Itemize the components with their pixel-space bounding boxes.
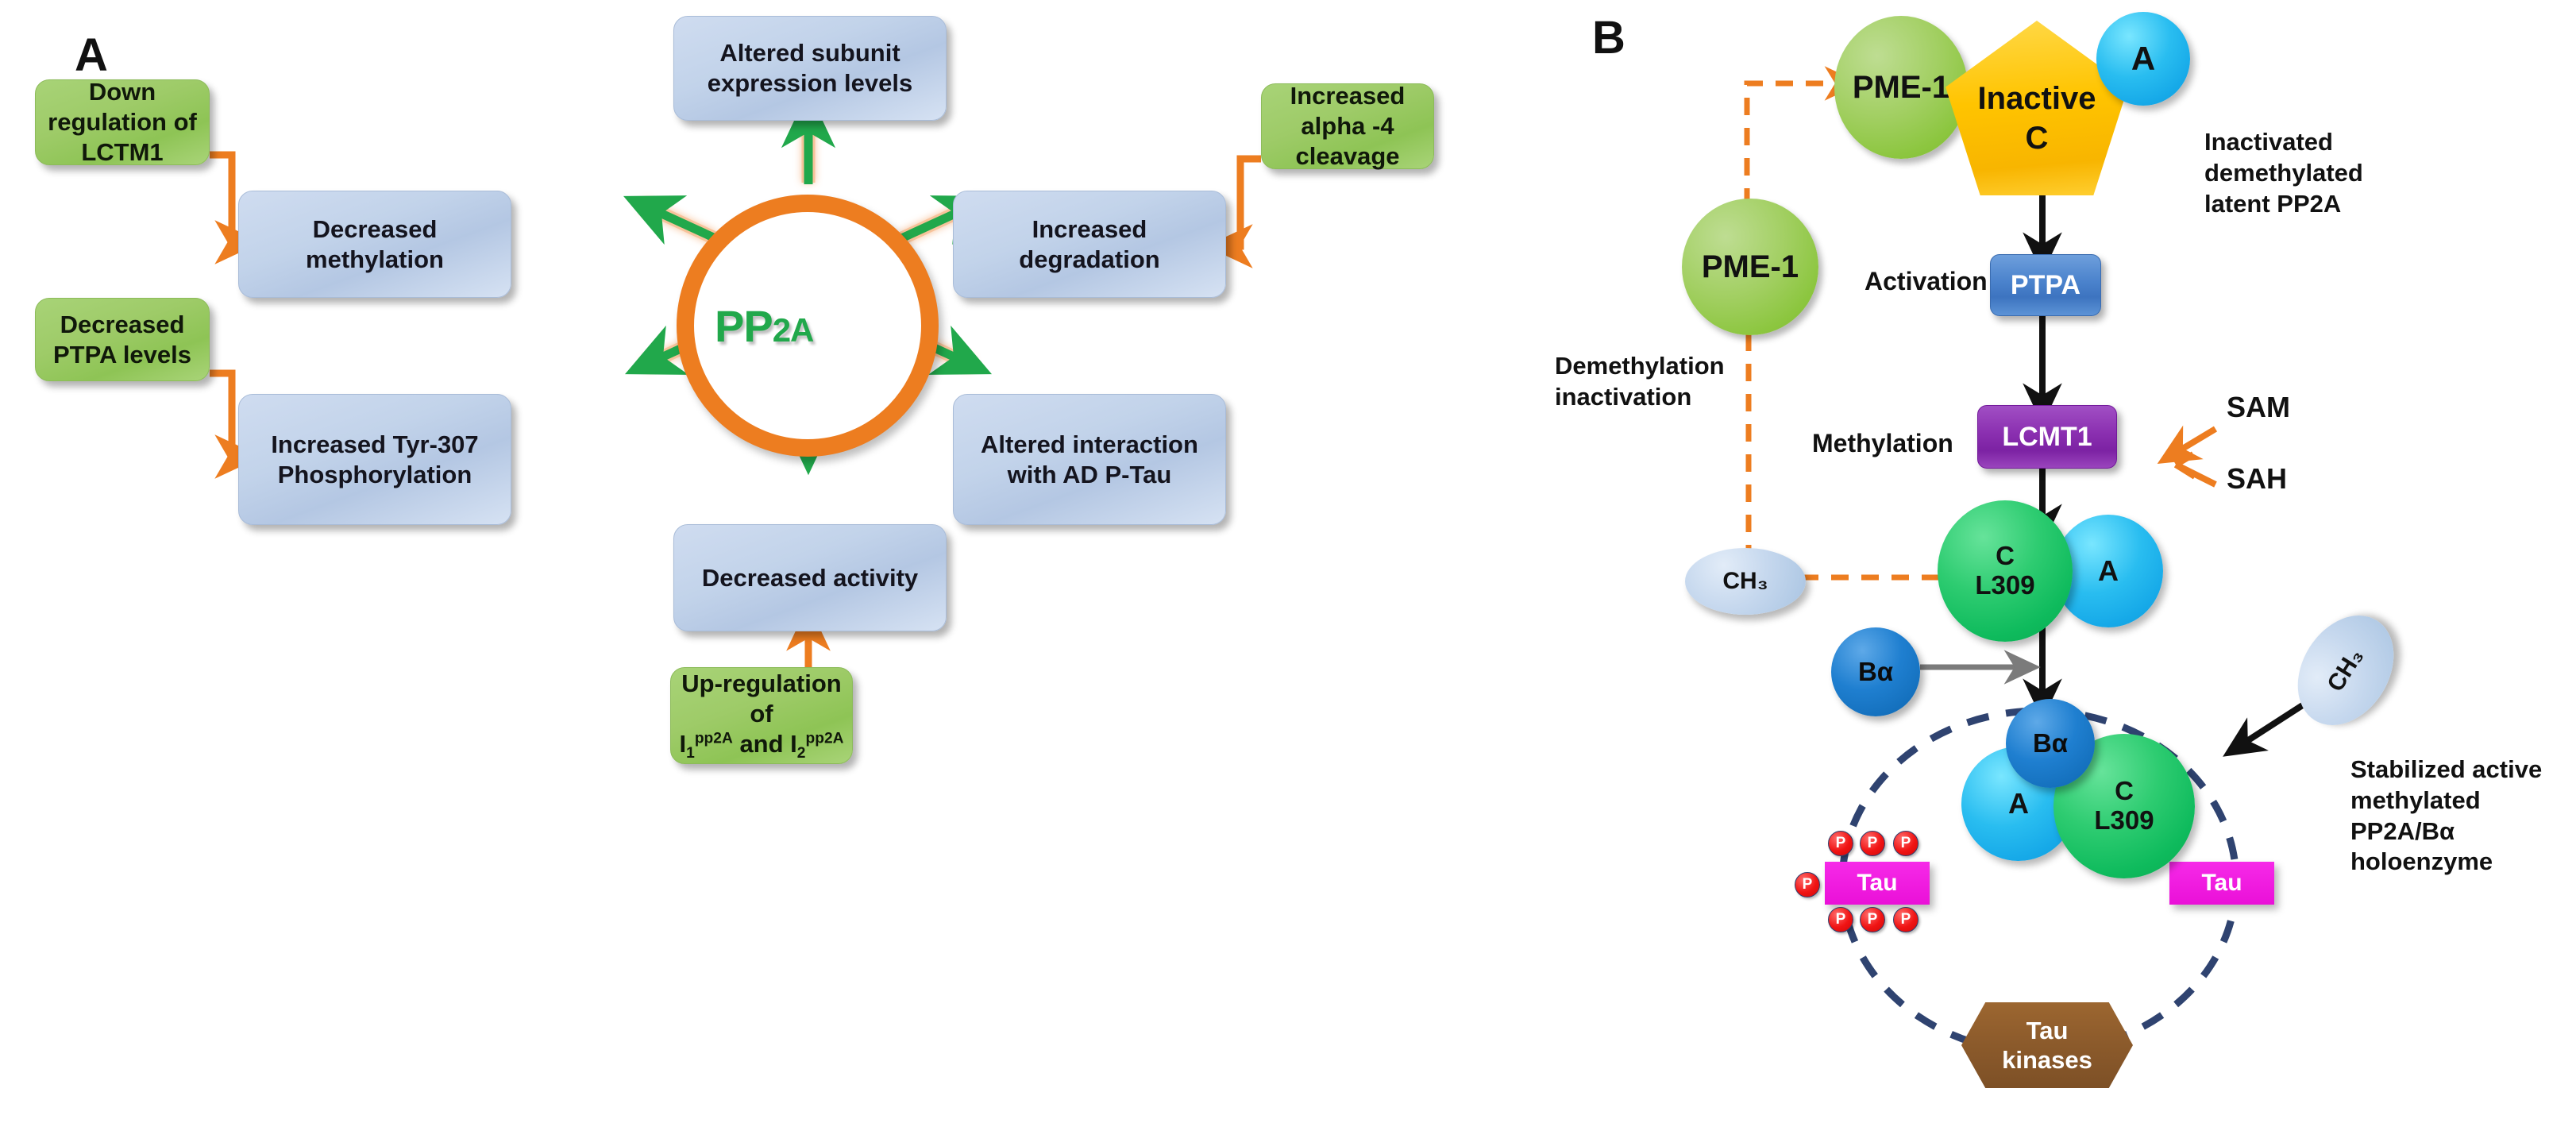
panel-a: A — [0, 0, 1548, 1127]
phosphate-icon: P — [1828, 907, 1853, 932]
phosphate-icon: P — [1795, 872, 1820, 897]
c-l309-holo-line2: L309 — [2094, 806, 2154, 836]
panel-a-letter: A — [75, 29, 108, 82]
inactivated-line3: latent PP2A — [2204, 189, 2363, 220]
ch3-left-node[interactable]: CH₃ — [1685, 548, 1806, 615]
inhibitor-1-superscript: pp2A — [695, 730, 733, 747]
c-l309-mid-line2: L309 — [1975, 571, 2034, 600]
inactive-c-line2: C — [2026, 118, 2049, 158]
c-l309-holo-line1: C — [2115, 777, 2134, 806]
tau-phospho-box[interactable]: Tau — [1825, 862, 1930, 905]
phosphate-icon: P — [1893, 831, 1919, 856]
lcmt1-node[interactable]: LCMT1 — [1977, 405, 2117, 469]
activation-label: Activation — [1865, 265, 1988, 297]
panel-b-letter: B — [1592, 11, 1625, 64]
node-down-regulation-lctm1[interactable]: Down regulation of LCTM1 — [35, 79, 210, 165]
tau-kinases-line1: Tau — [2026, 1016, 2069, 1045]
c-l309-mid-line1: C — [1996, 542, 2015, 571]
node-decreased-activity[interactable]: Decreased activity — [673, 524, 947, 631]
inhibitor-2-subscript: 2 — [797, 745, 806, 762]
ptpa-node[interactable]: PTPA — [1990, 254, 2101, 316]
sah-label: SAH — [2227, 461, 2287, 496]
tau-kinases-hexagon[interactable]: Tau kinases — [1961, 1002, 2133, 1088]
sam-label: SAM — [2227, 389, 2290, 425]
demethylation-line2: inactivation — [1555, 382, 1725, 413]
demethylation-line1: Demethylation — [1555, 351, 1725, 382]
demethylation-inactivation-label: Demethylation inactivation — [1555, 351, 1725, 413]
inactivated-line2: demethylated — [2204, 158, 2363, 189]
methylation-label: Methylation — [1812, 427, 1953, 459]
node-decreased-methylation[interactable]: Decreased methylation — [238, 191, 511, 298]
up-regulation-line2: I1pp2A and I2pp2A — [680, 729, 844, 763]
ch3-right-node[interactable]: CH₃ — [2278, 598, 2413, 743]
c-l309-mid-node[interactable]: C L309 — [1938, 500, 2073, 642]
pp2a-text-main: PP — [715, 301, 773, 351]
node-up-regulation-inhibitors[interactable]: Up-regulation of I1pp2A and I2pp2A — [670, 667, 853, 764]
pme1-left-node[interactable]: PME-1 — [1682, 199, 1818, 335]
phosphate-icon: P — [1828, 831, 1853, 856]
node-increased-tyr307-phosphorylation[interactable]: Increased Tyr-307 Phosphorylation — [238, 394, 511, 525]
inhibitor-2-symbol: I — [790, 730, 797, 758]
stabilized-line1: Stabilized active methylated — [2350, 755, 2576, 816]
node-altered-subunit-expression[interactable]: Altered subunit expression levels — [673, 16, 947, 121]
up-regulation-line1: Up-regulation of — [679, 669, 844, 729]
tau-plain-box[interactable]: Tau — [2169, 862, 2274, 905]
phosphate-icon: P — [1893, 907, 1919, 932]
phosphate-icon: P — [1860, 907, 1885, 932]
stabilized-line2: PP2A/Bα holoenzyme — [2350, 816, 2576, 878]
tau-kinases-line2: kinases — [2002, 1045, 2092, 1075]
a-subunit-top-node[interactable]: A — [2096, 12, 2190, 106]
node-increased-degradation[interactable]: Increased degradation — [953, 191, 1226, 298]
node-decreased-ptpa-levels[interactable]: Decreased PTPA levels — [35, 298, 210, 381]
inactivated-latent-pp2a-label: Inactivated demethylated latent PP2A — [2204, 127, 2363, 219]
pp2a-center-label: PP2A — [715, 300, 813, 352]
phosphate-icon: P — [1860, 831, 1885, 856]
node-increased-alpha4-cleavage[interactable]: Increased alpha -4 cleavage — [1261, 83, 1434, 169]
pp2a-text-sub: 2A — [773, 311, 814, 349]
panel-b: B — [1548, 0, 2576, 1127]
b-alpha-holo-node[interactable]: Bα — [2006, 699, 2095, 788]
inhibitor-conjunction: and — [733, 730, 790, 758]
inhibitor-1-symbol: I — [680, 730, 687, 758]
node-altered-interaction-ad-ptau[interactable]: Altered interaction with AD P-Tau — [953, 394, 1226, 525]
inhibitor-2-superscript: pp2A — [805, 730, 843, 747]
inhibitor-1-subscript: 1 — [686, 745, 695, 762]
stabilized-holoenzyme-label: Stabilized active methylated PP2A/Bα hol… — [2350, 755, 2576, 878]
inactivated-line1: Inactivated — [2204, 127, 2363, 158]
inactive-c-line1: Inactive — [1978, 79, 2096, 118]
b-alpha-free-node[interactable]: Bα — [1831, 627, 1920, 716]
